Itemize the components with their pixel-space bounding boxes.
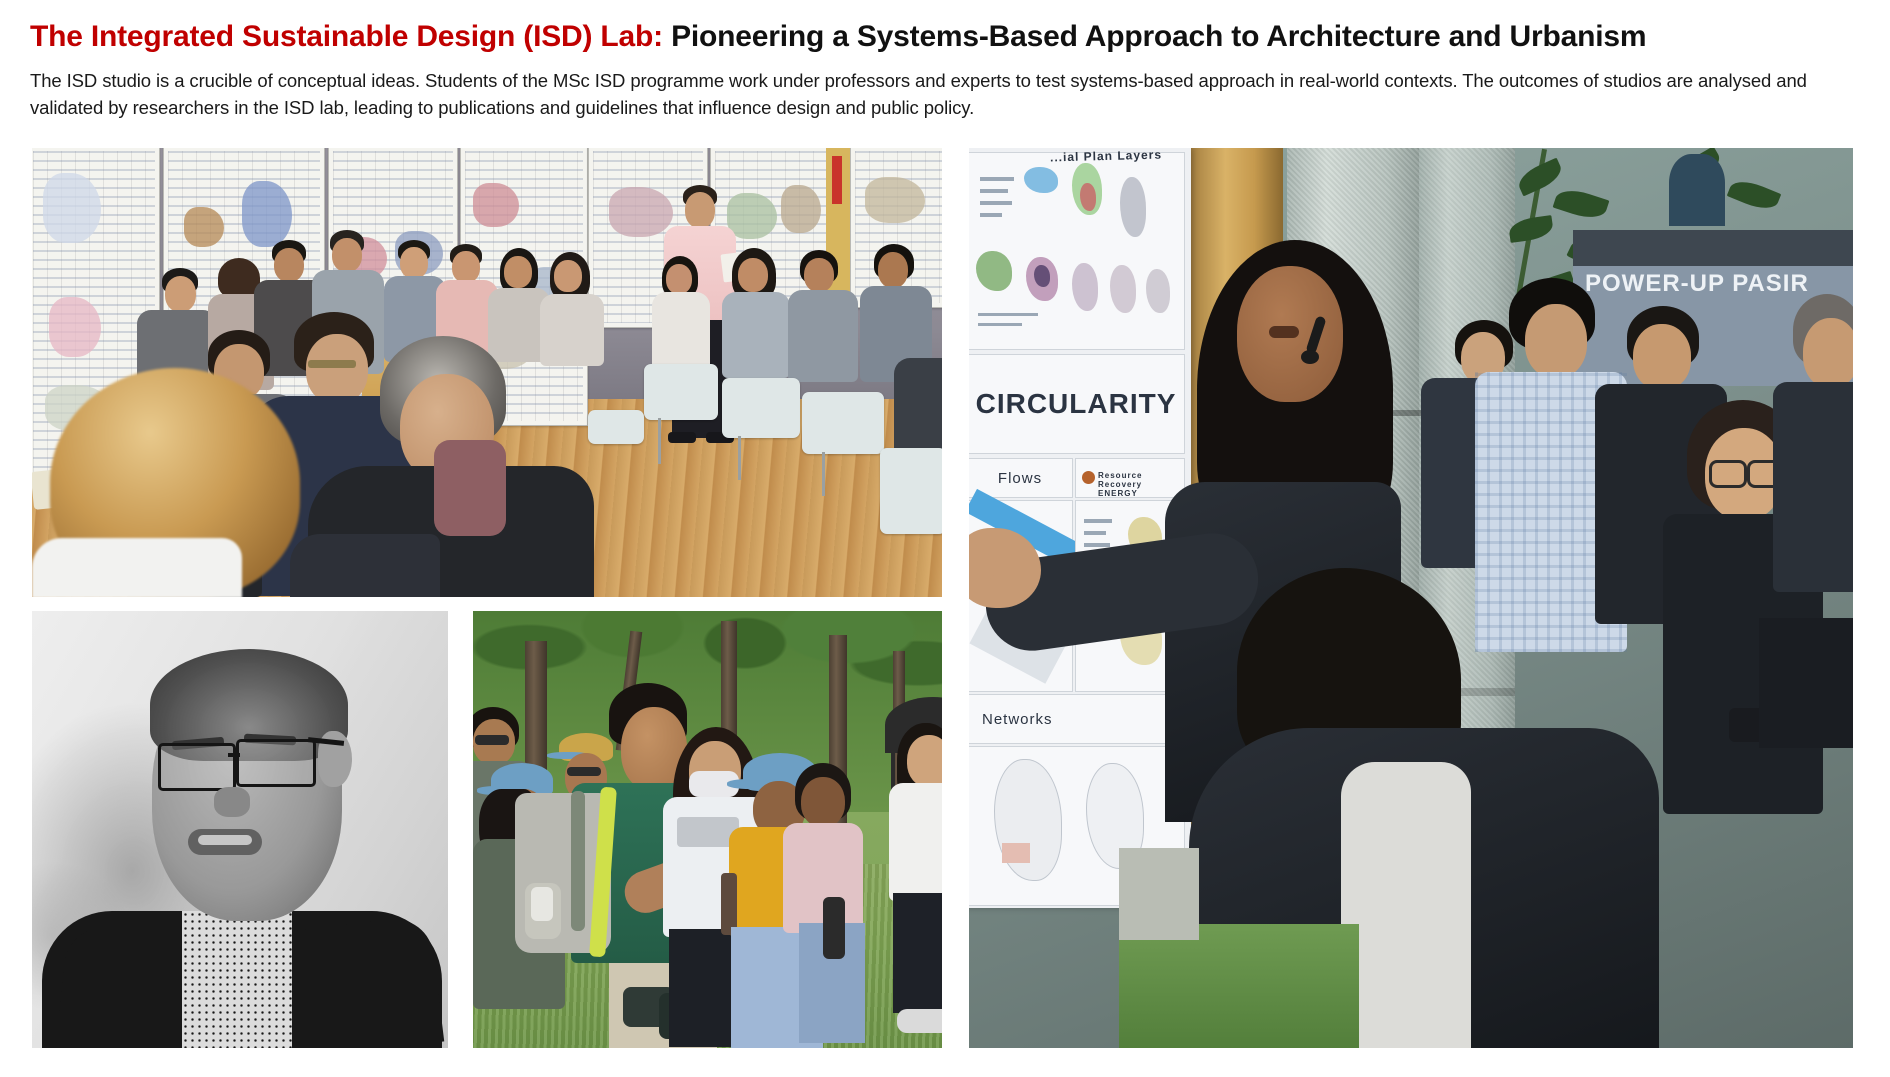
floor xyxy=(1119,848,1199,940)
poster-section: ...ial Plan Layers xyxy=(969,152,1185,350)
photo-studio-crit xyxy=(32,148,942,597)
chair xyxy=(722,378,800,438)
poster-section-networks: Networks xyxy=(969,694,1185,744)
strap xyxy=(571,791,585,931)
photo-professor-portrait xyxy=(32,611,448,1048)
attendee-edge xyxy=(1759,618,1853,748)
glasses-left-lens xyxy=(158,743,236,791)
camera xyxy=(823,897,845,959)
poster-heading-flows: Flows xyxy=(998,470,1042,487)
chair-leg xyxy=(822,452,825,496)
photo-field-study xyxy=(473,611,942,1048)
poster-section-energy: Resource Recovery ENERGY xyxy=(1075,458,1185,498)
foreground-attendee-top xyxy=(32,538,242,597)
chair-leg xyxy=(738,436,741,480)
shirt xyxy=(1341,762,1471,1048)
jacket-lapel xyxy=(280,914,444,1048)
trousers xyxy=(893,893,942,1013)
banner-text: POWER-UP PASIR xyxy=(1585,270,1809,298)
chair xyxy=(588,410,644,444)
turf xyxy=(1119,924,1359,1048)
chair xyxy=(644,364,718,420)
page-title: The Integrated Sustainable Design (ISD) … xyxy=(30,20,1860,53)
page-title-accent: The Integrated Sustainable Design (ISD) … xyxy=(30,20,663,53)
glasses-bridge xyxy=(228,753,240,757)
bag-strap xyxy=(721,873,737,935)
poster-heading-top: ...ial Plan Layers xyxy=(1050,148,1162,164)
page-title-main: Pioneering a Systems-Based Approach to A… xyxy=(671,20,1646,53)
chair xyxy=(880,448,942,534)
sunglasses xyxy=(475,735,509,745)
banner-top-bar xyxy=(1573,230,1853,266)
nose xyxy=(214,787,250,817)
chair-leg xyxy=(658,418,661,464)
red-marker xyxy=(832,156,842,204)
poster-section-circularity: CIRCULARITY xyxy=(969,354,1185,454)
teeth xyxy=(198,835,252,845)
intro-paragraph: The ISD studio is a crucible of conceptu… xyxy=(30,68,1830,122)
photo-poster-presentation: ...ial Plan Layers CIRCULARITY Flows Res… xyxy=(969,148,1853,1048)
poster-heading-energy: Resource Recovery ENERGY xyxy=(1098,471,1184,498)
shirt xyxy=(182,911,292,1048)
glasses-right-lens xyxy=(236,739,316,787)
chair xyxy=(802,392,884,454)
shoe xyxy=(897,1009,942,1033)
banner-palm-graphic xyxy=(1669,154,1725,226)
poster-heading-circularity: CIRCULARITY xyxy=(976,388,1177,420)
poster-heading-networks: Networks xyxy=(982,711,1053,728)
sunglasses xyxy=(567,767,601,776)
water-bottle xyxy=(531,887,553,921)
